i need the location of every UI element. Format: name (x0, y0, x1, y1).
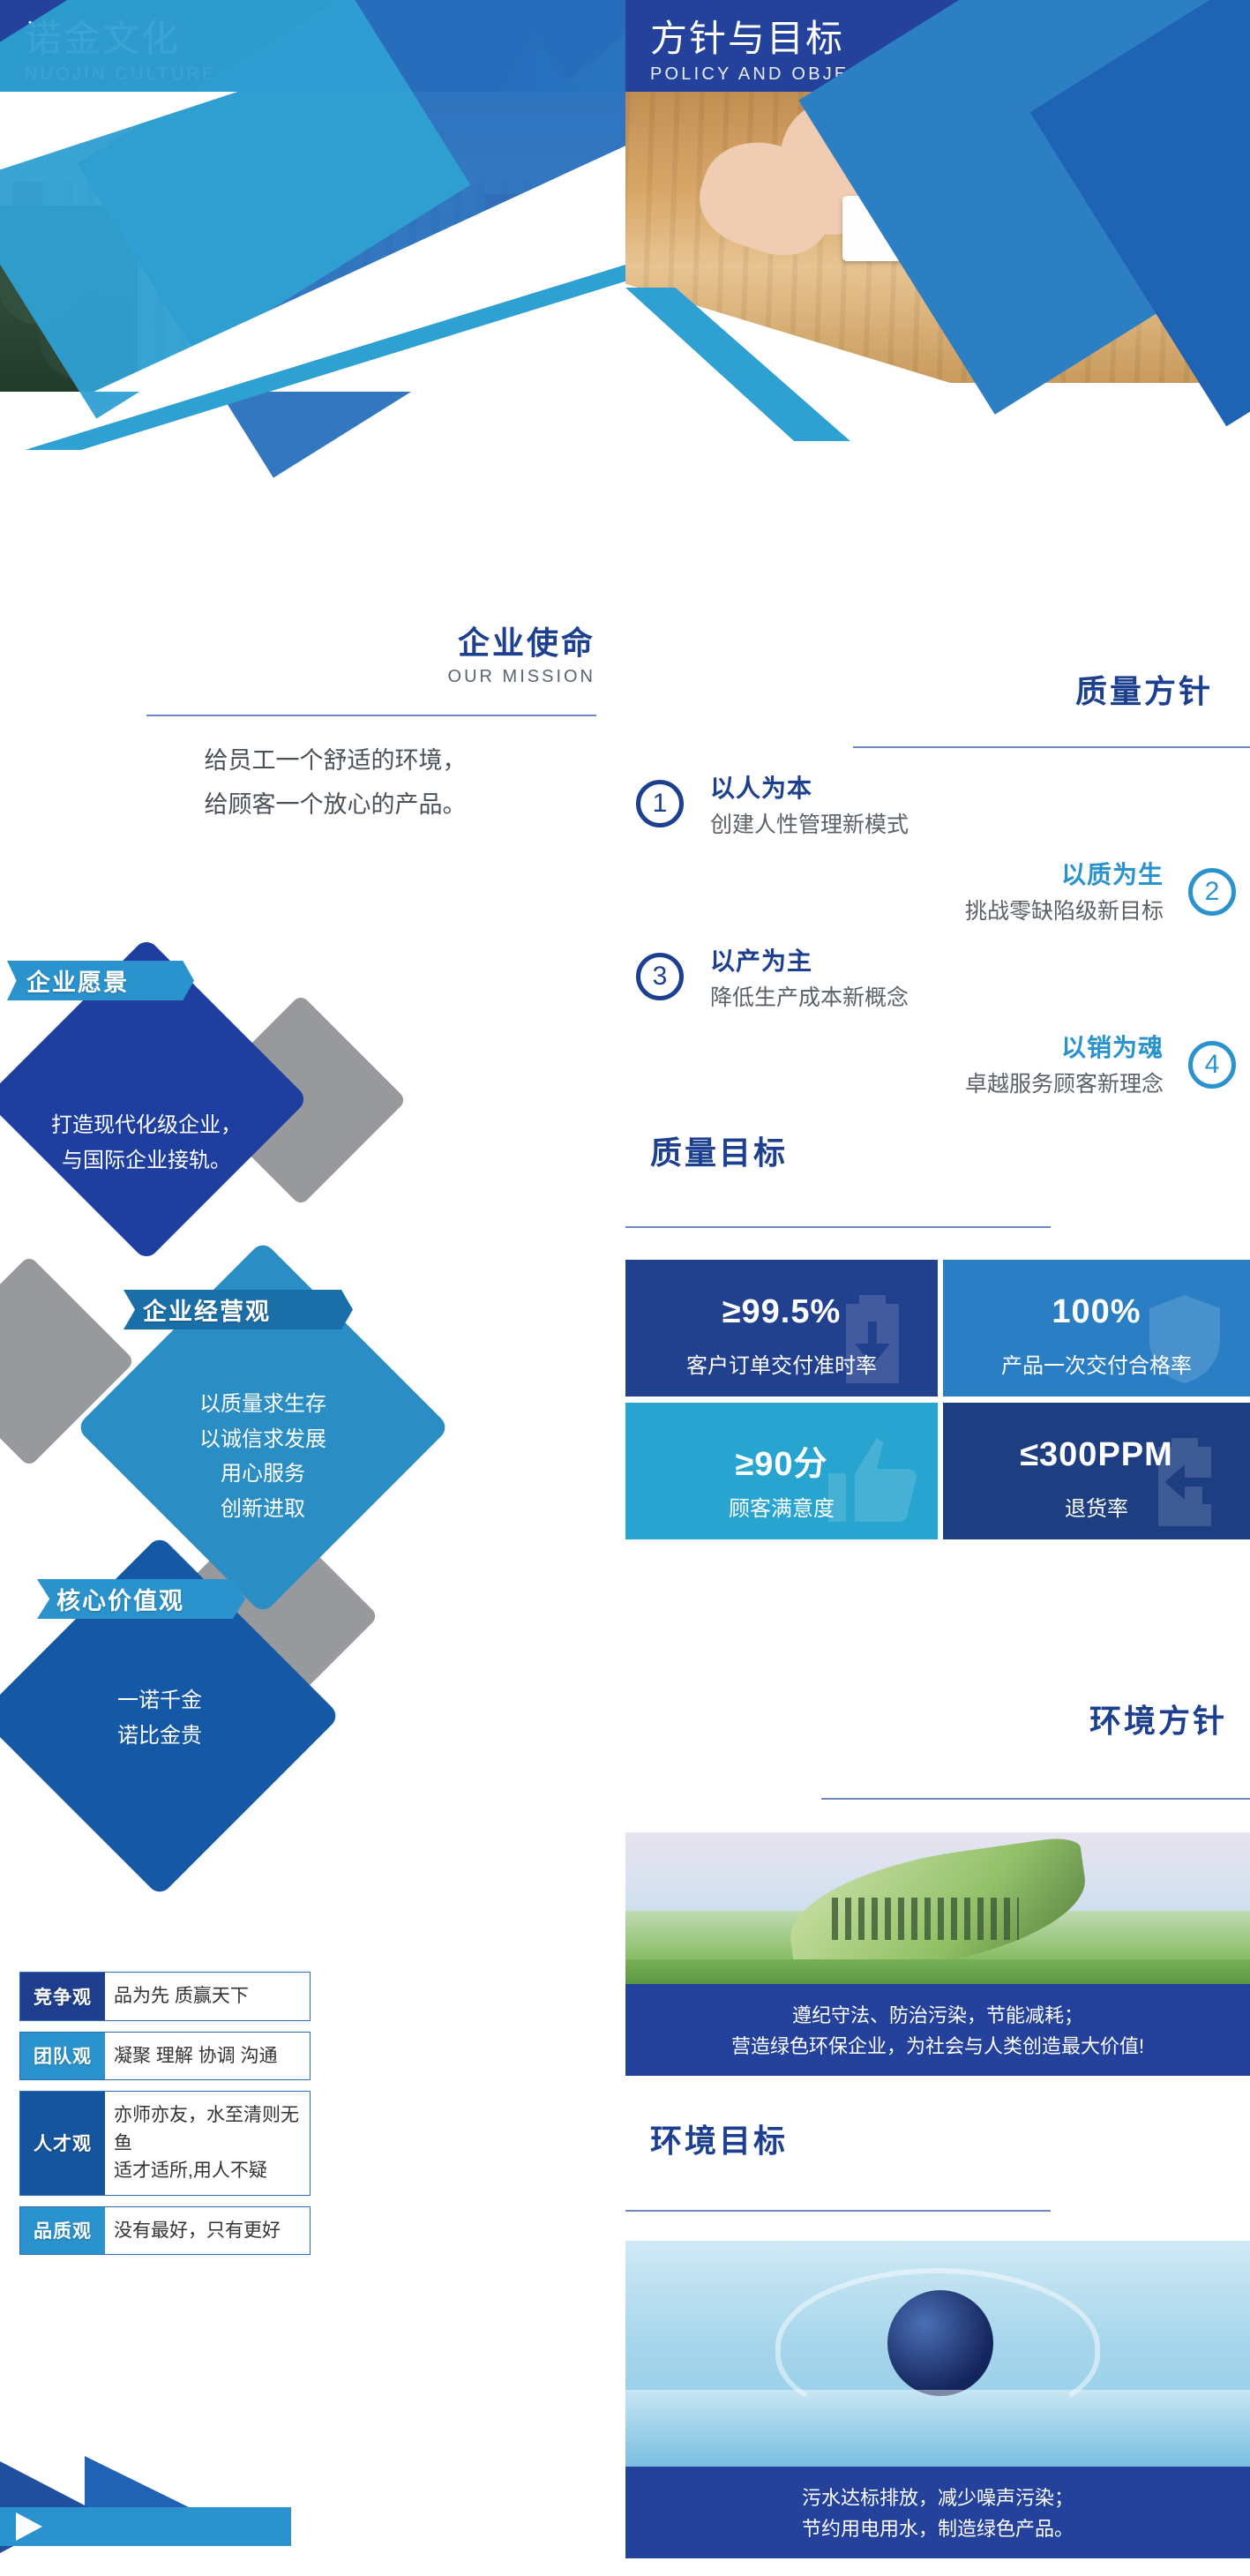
env-objectives-line-2: 节约用电用水，制造绿色产品。 (634, 2513, 1241, 2544)
table-row-value: 品为先 质赢天下 (105, 1973, 310, 2020)
vision-diamond: 打造现代化级企业， 与国际企业接轨。 (32, 985, 261, 1214)
vision-ribbon: 企业愿景 (7, 961, 194, 1000)
kpi-card-return-rate: ≤300PPM 退货率 (943, 1403, 1250, 1539)
vision-line-2: 与国际企业接轨。 (32, 1143, 261, 1179)
kpi-value: ≤300PPM (943, 1436, 1250, 1474)
green-leaf-photo (625, 1832, 1250, 1996)
footer-arrow-art (0, 2461, 318, 2576)
policy-heading: 以质为生 (625, 856, 1164, 891)
vision-text: 打造现代化级企业， 与国际企业接轨。 (32, 1108, 261, 1178)
quality-policy-item-3: 3 以产为主 降低生产成本新概念 (625, 942, 1250, 1012)
table-cell-line: 没有最好，只有更好 (114, 2217, 301, 2245)
env-policy-divider (821, 1798, 1250, 1800)
mission-line-2: 给顾客一个放心的产品。 (71, 783, 600, 827)
policy-text-2: 以质为生 挑战零缺陷级新目标 (625, 856, 1164, 925)
env-policy-title-block: 环境方针 (857, 1696, 1227, 1741)
water-splash-photo (625, 2241, 1250, 2467)
env-objectives-line-1: 污水达标排放，减少噪声污染； (634, 2482, 1241, 2513)
kpi-card-customer-satisfaction: ≥90分 顾客满意度 (625, 1403, 938, 1539)
policy-subtext: 创建人性管理新模式 (710, 807, 1250, 839)
policy-number-badge: 2 (1188, 868, 1236, 916)
policy-text-3: 以产为主 降低生产成本新概念 (710, 942, 1250, 1012)
table-row-key: 团队观 (20, 2033, 105, 2080)
env-policy-statement: 遵纪守法、防治污染，节能减耗； 营造绿色环保企业，为社会与人类创造最大价值! (625, 1984, 1250, 2076)
table-cell-line: 凝聚 理解 协调 沟通 (114, 2042, 301, 2071)
business-view-line-4: 创新进取 (131, 1492, 395, 1527)
policy-heading: 以产为主 (710, 942, 1250, 977)
quality-policy-item-1: 1 以人为本 创建人性管理新模式 (625, 769, 1250, 839)
kpi-label: 客户订单交付准时率 (625, 1348, 938, 1379)
kpi-card-first-pass-yield: 100% 产品一次交付合格率 (943, 1260, 1250, 1397)
values-table: 竞争观 品为先 质赢天下 团队观 凝聚 理解 协调 沟通 人才观 亦师亦友，水至… (19, 1972, 311, 2265)
policy-text-4: 以销为魂 卓越服务顾客新理念 (625, 1029, 1164, 1098)
policy-heading: 以销为魂 (625, 1029, 1164, 1064)
leaf-city-skyline (832, 1898, 1019, 1940)
mission-title-en: OUR MISSION (225, 667, 595, 687)
business-view-text: 以质量求生存 以诚信求发展 用心服务 创新进取 (131, 1387, 395, 1526)
quality-policy-title-block: 质量方针 (842, 666, 1213, 712)
vision-ribbon-label: 企业愿景 (7, 963, 148, 998)
quality-policy-item-2: 2 以质为生 挑战零缺陷级新目标 (625, 856, 1250, 925)
quality-policy-divider (853, 746, 1250, 748)
kpi-label: 顾客满意度 (625, 1491, 938, 1522)
kpi-value: ≥99.5% (625, 1293, 938, 1331)
core-values-ribbon-label: 核心价值观 (37, 1582, 204, 1616)
table-row-value: 没有最好，只有更好 (105, 2207, 310, 2255)
table-row-key: 品质观 (20, 2207, 105, 2255)
core-values-ribbon: 核心价值观 (37, 1579, 245, 1619)
policy-subtext: 降低生产成本新概念 (710, 980, 1250, 1012)
core-values-line-2: 诺比金贵 (32, 1719, 288, 1754)
quality-policy-item-4: 4 以销为魂 卓越服务顾客新理念 (625, 1029, 1250, 1098)
kpi-value: ≥90分 (625, 1436, 938, 1485)
water-surface (625, 2390, 1250, 2467)
env-policy-title: 环境方针 (857, 1696, 1227, 1741)
kpi-label: 产品一次交付合格率 (943, 1348, 1250, 1379)
table-cell-line: 亦师亦友，水至清则无鱼 (114, 2101, 301, 2157)
mission-divider (146, 715, 596, 716)
table-cell-line: 适才适所,用人不疑 (114, 2157, 301, 2185)
table-row-value: 亦师亦友，水至清则无鱼 适才适所,用人不疑 (105, 2092, 310, 2195)
core-values-diamond: 一诺千金 诺比金贵 (32, 1588, 288, 1844)
policy-text-1: 以人为本 创建人性管理新模式 (710, 769, 1250, 839)
mission-line-1: 给员工一个舒适的环境， (71, 739, 600, 783)
mission-title-cn: 企业使命 (225, 618, 595, 663)
business-view-line-2: 以诚信求发展 (131, 1422, 395, 1457)
env-policy-line-1: 遵纪守法、防治污染，节能减耗； (634, 2000, 1241, 2031)
business-view-diamond: 以质量求生存 以诚信求发展 用心服务 创新进取 (131, 1295, 395, 1560)
quality-objectives-title-block: 质量目标 (650, 1127, 1021, 1173)
env-policy-line-2: 营造绿色环保企业，为社会与人类创造最大价值! (634, 2031, 1241, 2062)
env-objectives-statement: 污水达标排放，减少噪声污染； 节约用电用水，制造绿色产品。 (625, 2467, 1250, 2558)
table-row: 竞争观 品为先 质赢天下 (19, 1972, 311, 2021)
table-cell-line: 品为先 质赢天下 (114, 1982, 301, 2011)
quality-policy-title: 质量方针 (842, 666, 1213, 712)
policy-heading: 以人为本 (710, 769, 1250, 805)
table-row: 品质观 没有最好，只有更好 (19, 2206, 311, 2256)
kpi-card-on-time-delivery: ≥99.5% 客户订单交付准时率 (625, 1260, 938, 1397)
table-row-key: 人才观 (20, 2092, 105, 2195)
core-values-line-1: 一诺千金 (32, 1683, 288, 1719)
policy-number-badge: 1 (636, 780, 684, 827)
vision-line-1: 打造现代化级企业， (32, 1108, 261, 1143)
policy-subtext: 挑战零缺陷级新目标 (625, 894, 1164, 925)
core-values-text: 一诺千金 诺比金贵 (32, 1683, 288, 1753)
env-objectives-divider (625, 2210, 1051, 2212)
policy-number-badge: 3 (636, 953, 684, 1000)
footer-arrow-cyan-bar (0, 2507, 291, 2546)
business-view-ribbon: 企业经营观 (124, 1290, 353, 1329)
business-view-ribbon-label: 企业经营观 (124, 1292, 290, 1327)
policy-subtext: 卓越服务顾客新理念 (625, 1067, 1164, 1098)
mission-title-block: 企业使命 OUR MISSION (225, 618, 595, 687)
policy-number-badge: 4 (1188, 1041, 1236, 1089)
mission-statement: 给员工一个舒适的环境， 给顾客一个放心的产品。 (71, 739, 600, 827)
table-row-key: 竞争观 (20, 1973, 105, 2020)
earth-globe (887, 2290, 993, 2396)
business-view-line-3: 用心服务 (131, 1456, 395, 1492)
table-row-value: 凝聚 理解 协调 沟通 (105, 2033, 310, 2080)
footer-arrow-wedge-icon (85, 2456, 189, 2507)
quality-objectives-title: 质量目标 (650, 1127, 1021, 1173)
footer-arrow-play-icon (16, 2512, 42, 2541)
table-row: 人才观 亦师亦友，水至清则无鱼 适才适所,用人不疑 (19, 2091, 311, 2196)
table-row: 团队观 凝聚 理解 协调 沟通 (19, 2032, 311, 2081)
env-objectives-title: 环境目标 (650, 2115, 1021, 2161)
left-column: 诺金文化 NUOJIN CULTURE 企业使命 OUR MISSION 给员工… (0, 0, 625, 2576)
quality-objectives-divider (625, 1226, 1051, 1228)
kpi-value: 100% (943, 1293, 1250, 1331)
business-view-line-1: 以质量求生存 (131, 1387, 395, 1422)
right-column: 方针与目标 POLICY AND OBJECTIVES 质量方针 1 以人为本 … (625, 0, 1250, 2576)
kpi-label: 退货率 (943, 1491, 1250, 1522)
env-objectives-title-block: 环境目标 (650, 2115, 1021, 2161)
